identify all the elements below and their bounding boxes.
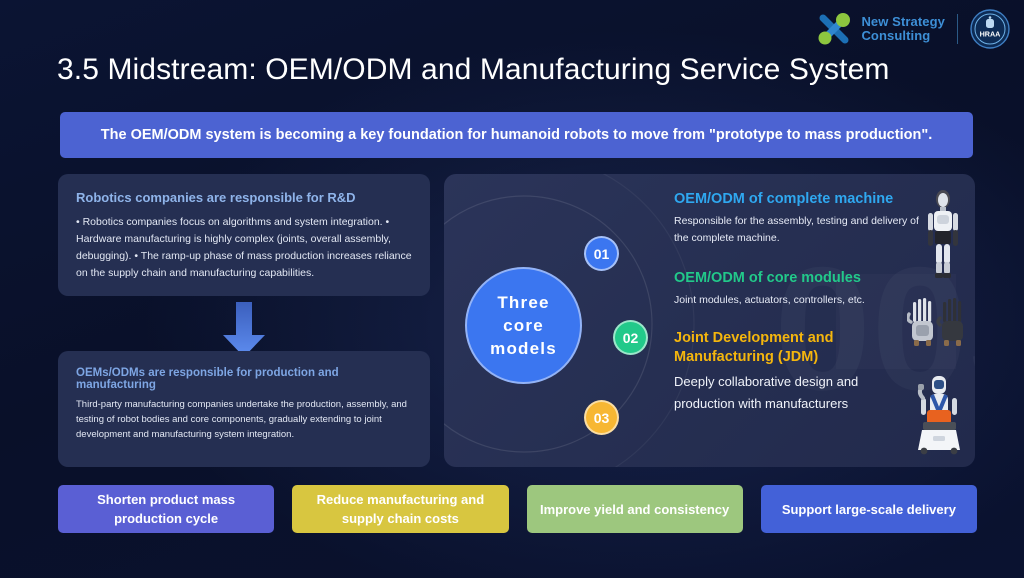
new-strategy-logo-text: New Strategy Consulting [861,15,945,43]
item-core-modules-desc: Joint modules, actuators, controllers, e… [674,292,919,309]
core-model-items: OEM/ODM of complete machine Responsible … [674,190,919,427]
node-03-label: 03 [594,410,610,426]
node-03[interactable]: 03 [584,400,619,435]
panel-rnd-body: • Robotics companies focus on algorithms… [76,214,412,282]
panel-oem-title: OEMs/ODMs are responsible for production… [76,367,412,391]
item-complete-machine: OEM/ODM of complete machine Responsible … [674,190,919,247]
chip-large-scale-delivery[interactable]: Support large-scale delivery [761,485,977,533]
logo-divider [957,14,958,44]
item-complete-machine-desc: Responsible for the assembly, testing an… [674,213,919,247]
slide-root: New Strategy Consulting HRAA 3.5 Midstre… [0,0,1024,578]
hub-circle: Three core models [465,267,582,384]
item-core-modules-title: OEM/ODM of core modules [674,269,919,288]
page-title: 3.5 Midstream: OEM/ODM and Manufacturing… [57,53,889,87]
node-01[interactable]: 01 [584,236,619,271]
svg-text:HRAA: HRAA [980,30,1001,39]
item-core-modules: OEM/ODM of core modules Joint modules, a… [674,269,919,309]
arrow-down-icon [219,302,269,358]
chip-reduce-costs-label: Reduce manufacturing and supply chain co… [302,490,498,528]
chip-large-scale-delivery-label: Support large-scale delivery [782,500,956,519]
item-complete-machine-title: OEM/ODM of complete machine [674,190,919,209]
chip-improve-yield-label: Improve yield and consistency [540,500,729,519]
robot-hands-image-icon [907,294,969,356]
panel-rnd: Robotics companies are responsible for R… [58,174,430,296]
item-jdm-desc: Deeply collaborative design and producti… [674,371,919,415]
humanoid-robot-image-icon [917,188,969,280]
service-robot-image-icon [909,372,969,460]
chip-shorten-cycle[interactable]: Shorten product mass production cycle [58,485,274,533]
chip-shorten-cycle-label: Shorten product mass production cycle [68,490,264,528]
three-core-models-panel: 003 Three core models 01 02 03 OEM/ODM o… [444,174,975,467]
item-jdm-title: Joint Development and Manufacturing (JDM… [674,329,919,367]
header-logos: New Strategy Consulting HRAA [814,6,1010,52]
hraa-badge-icon: HRAA [970,9,1010,49]
benefit-chips: Shorten product mass production cycle Re… [58,485,977,533]
key-message-banner: The OEM/ODM system is becoming a key fou… [60,112,973,158]
node-02[interactable]: 02 [613,320,648,355]
chip-reduce-costs[interactable]: Reduce manufacturing and supply chain co… [292,485,508,533]
panel-rnd-title: Robotics companies are responsible for R… [76,190,412,205]
panel-oem: OEMs/ODMs are responsible for production… [58,351,430,467]
chip-improve-yield[interactable]: Improve yield and consistency [527,485,743,533]
panel-oem-body: Third-party manufacturing companies unde… [76,397,412,442]
hub-label: Three core models [490,291,557,360]
new-strategy-logo: New Strategy Consulting [814,11,945,47]
node-02-label: 02 [623,330,639,346]
banner-text: The OEM/ODM system is becoming a key fou… [101,125,932,145]
new-strategy-helix-logo-icon [814,11,854,47]
left-column: Robotics companies are responsible for R… [58,174,430,467]
item-jdm: Joint Development and Manufacturing (JDM… [674,329,919,415]
node-01-label: 01 [594,246,610,262]
